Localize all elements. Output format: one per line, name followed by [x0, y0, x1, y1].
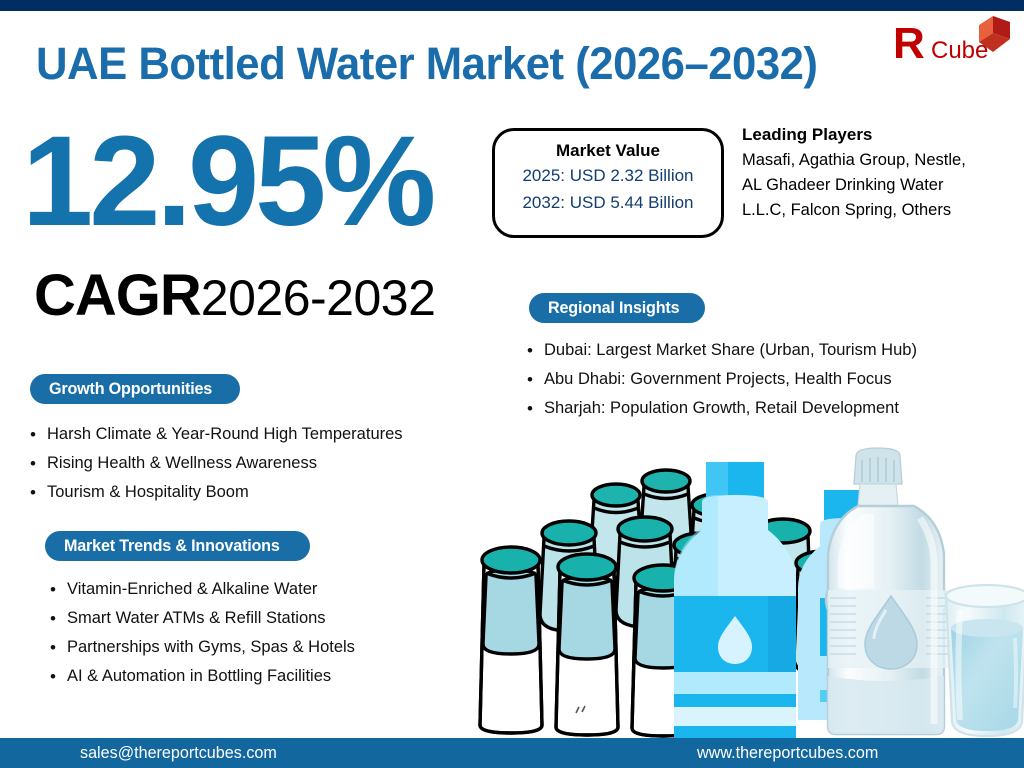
badge-market-trends[interactable]: Market Trends & Innovations — [45, 531, 310, 561]
list-item: Partnerships with Gyms, Spas & Hotels — [48, 633, 355, 662]
bottled-water-illustration — [468, 438, 1024, 740]
leading-players-line: L.L.C, Falcon Spring, Others — [742, 198, 1024, 223]
growth-opportunities-list: Harsh Climate & Year-Round High Temperat… — [28, 420, 403, 507]
list-item: Vitamin-Enriched & Alkaline Water — [48, 575, 355, 604]
list-item: Rising Health & Wellness Awareness — [28, 449, 403, 478]
top-accent-strip — [0, 0, 1024, 11]
list-item: Tourism & Hospitality Boom — [28, 478, 403, 507]
badge-regional-insights-label: Regional Insights — [548, 298, 679, 318]
badge-growth-opportunities-label: Growth Opportunities — [49, 379, 212, 399]
footer-bar: sales@thereportcubes.com www.thereportcu… — [0, 738, 1024, 768]
list-item: Smart Water ATMs & Refill Stations — [48, 604, 355, 633]
cagr-percent: 12.95% — [22, 118, 432, 246]
logo-cube-icon — [977, 16, 1011, 57]
market-value-title: Market Value — [495, 140, 721, 162]
leading-players-line: Masafi, Agathia Group, Nestle, — [742, 148, 1024, 173]
glass-of-water — [946, 585, 1024, 736]
page-title: UAE Bottled Water Market (2026–2032) — [36, 38, 817, 90]
badge-market-trends-label: Market Trends & Innovations — [64, 536, 280, 556]
market-value-box: Market Value 2025: USD 2.32 Billion 2032… — [492, 128, 724, 238]
leading-players-line: AL Ghadeer Drinking Water — [742, 173, 1024, 198]
list-item: Harsh Climate & Year-Round High Temperat… — [28, 420, 403, 449]
market-trends-list: Vitamin-Enriched & Alkaline Water Smart … — [48, 575, 355, 691]
badge-regional-insights[interactable]: Regional Insights — [529, 293, 705, 323]
regional-insights-list: Dubai: Largest Market Share (Urban, Tour… — [525, 336, 917, 423]
footer-email[interactable]: sales@thereportcubes.com — [80, 743, 277, 763]
list-item: Abu Dhabi: Government Projects, Health F… — [525, 365, 917, 394]
market-value-line-2025: 2025: USD 2.32 Billion — [495, 162, 721, 189]
badge-growth-opportunities[interactable]: Growth Opportunities — [30, 374, 240, 404]
brand-logo[interactable]: Я Cube — [893, 16, 1013, 74]
leading-players-block: Leading Players Masafi, Agathia Group, N… — [742, 122, 1024, 223]
cartoon-bottle-cluster — [480, 470, 852, 736]
footer-website[interactable]: www.thereportcubes.com — [697, 743, 878, 763]
list-item: Dubai: Largest Market Share (Urban, Tour… — [525, 336, 917, 365]
cagr-years: 2026-2032 — [201, 270, 436, 326]
market-value-line-2032: 2032: USD 5.44 Billion — [495, 189, 721, 216]
cagr-label: CAGR — [34, 263, 201, 328]
list-item: AI & Automation in Bottling Facilities — [48, 662, 355, 691]
list-item: Sharjah: Population Growth, Retail Devel… — [525, 394, 917, 423]
infographic-root: UAE Bottled Water Market (2026–2032) Я C… — [0, 0, 1024, 768]
logo-mirrored-r-icon: Я — [893, 22, 925, 66]
leading-players-title: Leading Players — [742, 122, 1024, 148]
cagr-caption: CAGR2026-2032 — [34, 268, 435, 339]
